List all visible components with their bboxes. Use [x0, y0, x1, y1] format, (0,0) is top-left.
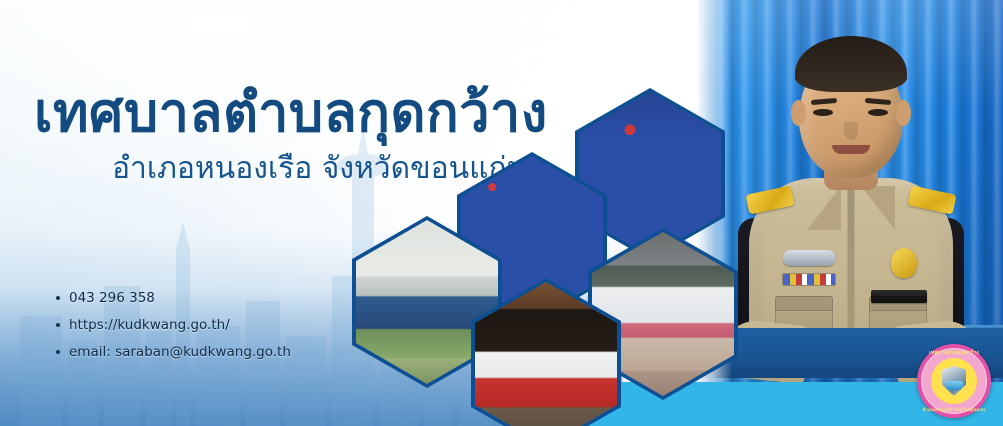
contact-phone-text: 043 296 358	[69, 290, 155, 307]
municipality-seal: เทศบาลตำบลกุดกว้าง อำเภอหนองเรือ จังหวัด…	[917, 344, 991, 418]
ear-right	[896, 100, 911, 126]
gold-crest-icon	[891, 248, 917, 278]
ear-left	[791, 100, 806, 126]
contact-item-email[interactable]: email: saraban@kudkwang.go.th	[56, 344, 291, 361]
shield-emblem-icon	[942, 366, 966, 396]
curtain-left-feather	[698, 0, 732, 426]
service-ribbons-icon	[783, 274, 835, 285]
eye-right	[868, 109, 888, 116]
nose	[844, 122, 858, 140]
contact-website-text[interactable]: https://kudkwang.go.th/	[69, 317, 230, 334]
contact-email-text[interactable]: email: saraban@kudkwang.go.th	[69, 344, 291, 361]
wing-badge-icon	[783, 250, 835, 266]
seal-core	[931, 358, 977, 404]
epaulette-right-icon	[907, 185, 956, 214]
bullet-dot-icon	[56, 296, 60, 300]
page-subtitle: อำเภอหนองเรือ จังหวัดขอนแก่น	[112, 152, 527, 186]
collar-left	[807, 186, 841, 230]
municipality-banner: เทศบาลตำบลกุดกว้าง อำเภอหนองเรือ จังหวัด…	[0, 0, 1003, 426]
bullet-dot-icon	[56, 350, 60, 354]
page-title: เทศบาลตำบลกุดกว้าง	[34, 84, 548, 142]
contact-item-phone: 043 296 358	[56, 290, 291, 307]
eye-left	[813, 109, 833, 116]
seal-text-bottom: อำเภอหนองเรือ จังหวัดขอนแก่น	[917, 406, 991, 413]
contact-item-website[interactable]: https://kudkwang.go.th/	[56, 317, 291, 334]
epaulette-left-icon	[745, 185, 794, 214]
bullet-dot-icon	[56, 323, 60, 327]
collar-right	[861, 186, 895, 230]
seal-text-top: เทศบาลตำบลกุดกว้าง	[917, 349, 991, 357]
contact-list: 043 296 358 https://kudkwang.go.th/ emai…	[56, 290, 291, 371]
mouth	[832, 145, 870, 154]
